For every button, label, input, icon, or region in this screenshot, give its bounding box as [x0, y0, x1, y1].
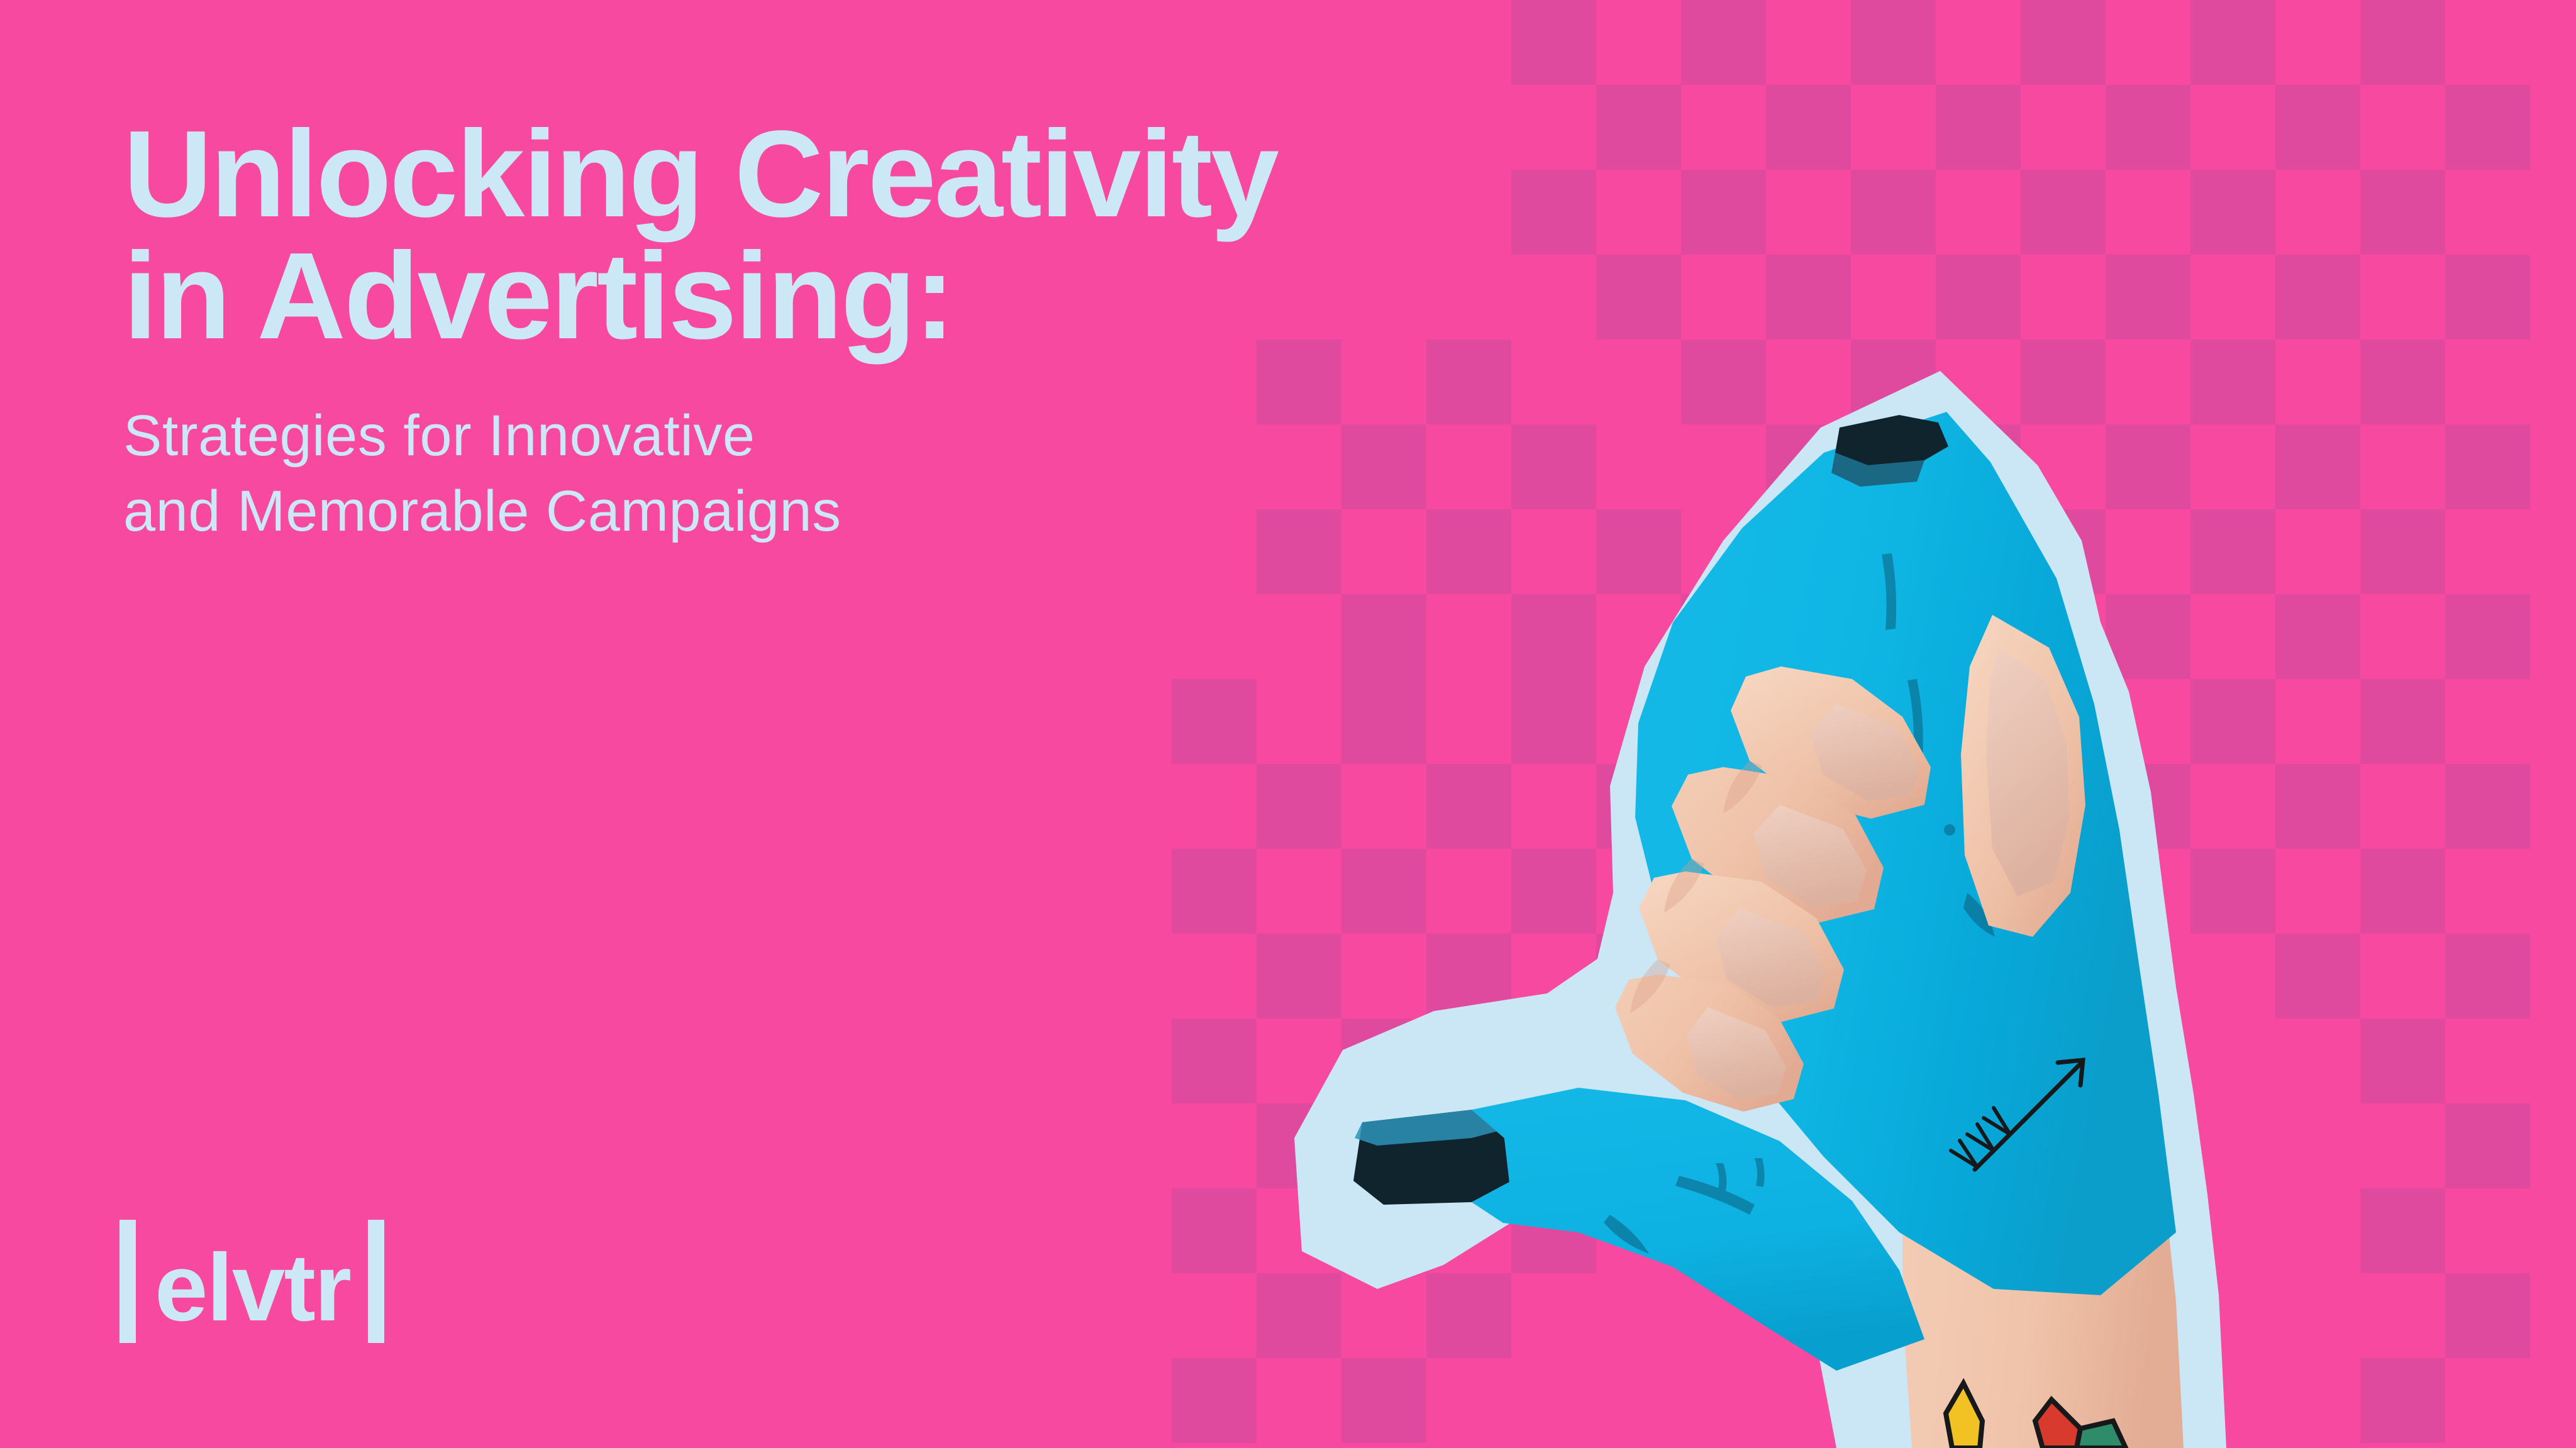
subtitle-line-1: Strategies for Innovative — [123, 399, 1277, 474]
text-block: Unlocking Creativity in Advertising: Str… — [123, 113, 1277, 549]
subtitle-line-2: and Memorable Campaigns — [123, 474, 1277, 550]
logo-wordmark: elvtr — [136, 1240, 368, 1335]
checker-cell — [2021, 0, 2106, 85]
page-title: Unlocking Creativity in Advertising: — [123, 113, 1277, 357]
checker-cell — [2106, 85, 2190, 170]
checker-cell — [2360, 170, 2445, 255]
checker-cell — [1172, 849, 1257, 934]
page-subtitle: Strategies for Innovative and Memorable … — [123, 399, 1277, 549]
hand-holding-blue-banana-image — [1283, 352, 2576, 1448]
checker-cell — [2190, 0, 2275, 85]
checker-cell — [1172, 679, 1257, 764]
checker-cell — [1936, 255, 2021, 340]
logo-right-bar-icon — [368, 1220, 384, 1343]
checker-cell — [1511, 0, 1596, 85]
checker-cell — [2190, 170, 2275, 255]
checker-cell — [2275, 85, 2360, 170]
poster-canvas: Unlocking Creativity in Advertising: Str… — [0, 0, 2576, 1448]
checker-cell — [2275, 255, 2360, 340]
headline-line-2: in Advertising: — [123, 235, 1277, 357]
headline-line-1: Unlocking Creativity — [123, 113, 1277, 235]
checker-cell — [1766, 255, 1851, 340]
checker-cell — [1851, 0, 1936, 85]
checker-cell — [1172, 1019, 1257, 1103]
logo-left-bar-icon — [119, 1220, 136, 1343]
checker-cell — [2106, 255, 2190, 340]
checker-cell — [1936, 85, 2021, 170]
checker-cell — [1172, 1358, 1257, 1443]
elvtr-logo[interactable]: elvtr — [119, 1219, 384, 1344]
checker-cell — [1172, 1188, 1257, 1273]
checker-cell — [1681, 170, 1766, 255]
checker-cell — [1596, 255, 1681, 340]
checker-cell — [1766, 85, 1851, 170]
checker-cell — [1851, 170, 1936, 255]
checker-cell — [2021, 170, 2106, 255]
checker-cell — [2445, 85, 2530, 170]
checker-cell — [1511, 170, 1596, 255]
checker-cell — [1596, 85, 1681, 170]
checker-cell — [2445, 255, 2530, 340]
checker-cell — [1681, 0, 1766, 85]
checker-cell — [2360, 0, 2445, 85]
